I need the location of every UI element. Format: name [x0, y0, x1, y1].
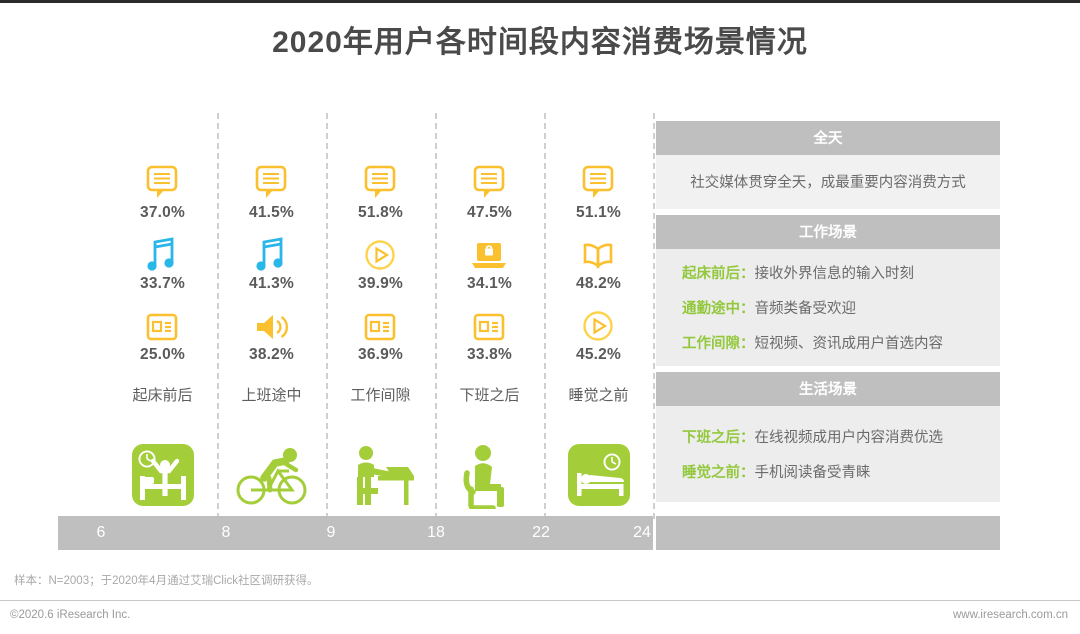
metric-value: 25.0% [140, 346, 185, 364]
chat-bubble-icon [581, 159, 615, 201]
page-title: 2020年用户各时间段内容消费场景情况 [0, 17, 1080, 61]
chat-bubble-icon [254, 159, 288, 201]
metric-cell: 25.0% [140, 301, 185, 370]
metric-value: 51.1% [576, 204, 621, 222]
news-card-icon [363, 301, 397, 343]
chat-bubble-icon [145, 159, 179, 201]
panel-row-key: 下班之后： [682, 430, 755, 446]
metric-value: 34.1% [467, 275, 512, 293]
spacer [656, 412, 1000, 419]
metric-value: 41.3% [249, 275, 294, 293]
panel-row: 通勤途中：音频类备受欢迎 [656, 290, 1000, 325]
timeline-tick: 24 [633, 516, 651, 550]
insights-panel: 全天 社交媒体贯穿全天，成最重要内容消费方式 工作场景 起床前后：接收外界信息的… [656, 121, 1000, 502]
person-at-desk-icon [344, 439, 418, 513]
timeline-tick: 18 [427, 516, 445, 550]
panel-header-allday: 全天 [656, 121, 1000, 155]
sleeping-in-bed-icon [564, 439, 634, 513]
chat-bubble-icon [363, 159, 397, 201]
panel-row-key: 起床前后： [682, 266, 755, 282]
panel-row: 下班之后：在线视频成用户内容消费优选 [656, 419, 1000, 454]
panel-work-body: 起床前后：接收外界信息的输入时刻 通勤途中：音频类备受欢迎 工作间隙：短视频、资… [656, 249, 1000, 366]
footer-divider [0, 600, 1080, 601]
metric-cell: 51.1% [576, 159, 621, 228]
panel-row: 工作间隙：短视频、资讯成用户首选内容 [656, 325, 1000, 360]
panel-row-text: 在线视频成用户内容消费优选 [755, 430, 944, 446]
metric-cell: 37.0% [140, 159, 185, 228]
speaker-icon [253, 301, 289, 343]
panel-row-key: 通勤途中： [682, 301, 755, 317]
metric-cell: 48.2% [576, 230, 621, 299]
chart-column-afterwork: 47.5% 34.1% 33.8% 下班之后 [435, 113, 544, 513]
chart-column-beforesleep: 51.1% 48.2% 45.2% 睡觉之前 [544, 113, 653, 513]
play-circle-icon [581, 301, 615, 343]
panel-row-text: 手机阅读备受青睐 [755, 465, 871, 481]
metric-cell: 39.9% [358, 230, 403, 299]
metric-value: 33.7% [140, 275, 185, 293]
period-label: 工作间隙 [350, 384, 410, 405]
panel-row: 起床前后：接收外界信息的输入时刻 [656, 255, 1000, 290]
metric-cell: 41.5% [249, 159, 294, 228]
metric-cell: 38.2% [249, 301, 294, 370]
metric-cell: 41.3% [249, 230, 294, 299]
panel-row-key: 工作间隙： [682, 336, 755, 352]
metric-value: 38.2% [249, 346, 294, 364]
period-label: 睡觉之前 [568, 384, 628, 405]
metric-value: 47.5% [467, 204, 512, 222]
panel-life-body: 下班之后：在线视频成用户内容消费优选 睡觉之前：手机阅读备受青睐 [656, 406, 1000, 502]
sample-note: 样本：N=2003；于2020年4月通过艾瑞Click社区调研获得。 [14, 572, 319, 588]
metric-cell: 47.5% [467, 159, 512, 228]
panel-row-text: 接收外界信息的输入时刻 [755, 266, 915, 282]
panel-allday-body: 社交媒体贯穿全天，成最重要内容消费方式 [656, 155, 1000, 209]
panel-row-text: 短视频、资讯成用户首选内容 [755, 336, 944, 352]
cyclist-icon [234, 439, 310, 513]
website-text: www.iresearch.com.cn [953, 609, 1068, 621]
timeline-bar-extension [656, 516, 1000, 550]
metric-value: 39.9% [358, 275, 403, 293]
news-card-icon [472, 301, 506, 343]
open-book-icon [580, 230, 616, 272]
panel-header-life: 生活场景 [656, 372, 1000, 406]
metric-cell: 45.2% [576, 301, 621, 370]
laptop-lock-icon [470, 230, 508, 272]
timeline-tick: 8 [222, 516, 231, 550]
metric-value: 41.5% [249, 204, 294, 222]
metric-cell: 33.7% [140, 230, 185, 299]
play-circle-icon [363, 230, 397, 272]
copyright-text: ©2020.6 iResearch Inc. [10, 609, 130, 621]
period-label: 起床前后 [132, 384, 192, 405]
scenario-chart: 37.0% 33.7% 25.0% 起床前后 [108, 113, 653, 513]
panel-row-text: 音频类备受欢迎 [755, 301, 857, 317]
period-label: 上班途中 [241, 384, 301, 405]
metric-value: 45.2% [576, 346, 621, 364]
panel-allday-text: 社交媒体贯穿全天，成最重要内容消费方式 [656, 164, 1000, 199]
metric-cell: 34.1% [467, 230, 512, 299]
panel-header-work: 工作场景 [656, 215, 1000, 249]
timeline-tick: 6 [97, 516, 106, 550]
timeline-bar: 6 8 9 18 22 24 [58, 516, 653, 550]
timeline-tick: 22 [532, 516, 550, 550]
metric-value: 48.2% [576, 275, 621, 293]
music-note-icon [145, 230, 179, 272]
panel-row: 睡觉之前：手机阅读备受青睐 [656, 454, 1000, 489]
period-label: 下班之后 [459, 384, 519, 405]
chat-bubble-icon [472, 159, 506, 201]
spacer [656, 489, 1000, 496]
metric-value: 37.0% [140, 204, 185, 222]
panel-row-key: 睡觉之前： [682, 465, 755, 481]
metric-value: 51.8% [358, 204, 403, 222]
seated-person-icon [461, 439, 519, 513]
metric-cell: 51.8% [358, 159, 403, 228]
metric-cell: 36.9% [358, 301, 403, 370]
metric-cell: 33.8% [467, 301, 512, 370]
chart-column-worktime: 51.8% 39.9% 36.9% 工作间隙 [326, 113, 435, 513]
timeline-tick: 9 [327, 516, 336, 550]
metric-value: 36.9% [358, 346, 403, 364]
news-card-icon [145, 301, 179, 343]
wake-up-in-bed-icon [128, 439, 198, 513]
chart-column-commute: 41.5% 41.3% 38.2% 上班途中 [217, 113, 326, 513]
chart-column-wakeup: 37.0% 33.7% 25.0% 起床前后 [108, 113, 217, 513]
music-note-icon [254, 230, 288, 272]
metric-value: 33.8% [467, 346, 512, 364]
